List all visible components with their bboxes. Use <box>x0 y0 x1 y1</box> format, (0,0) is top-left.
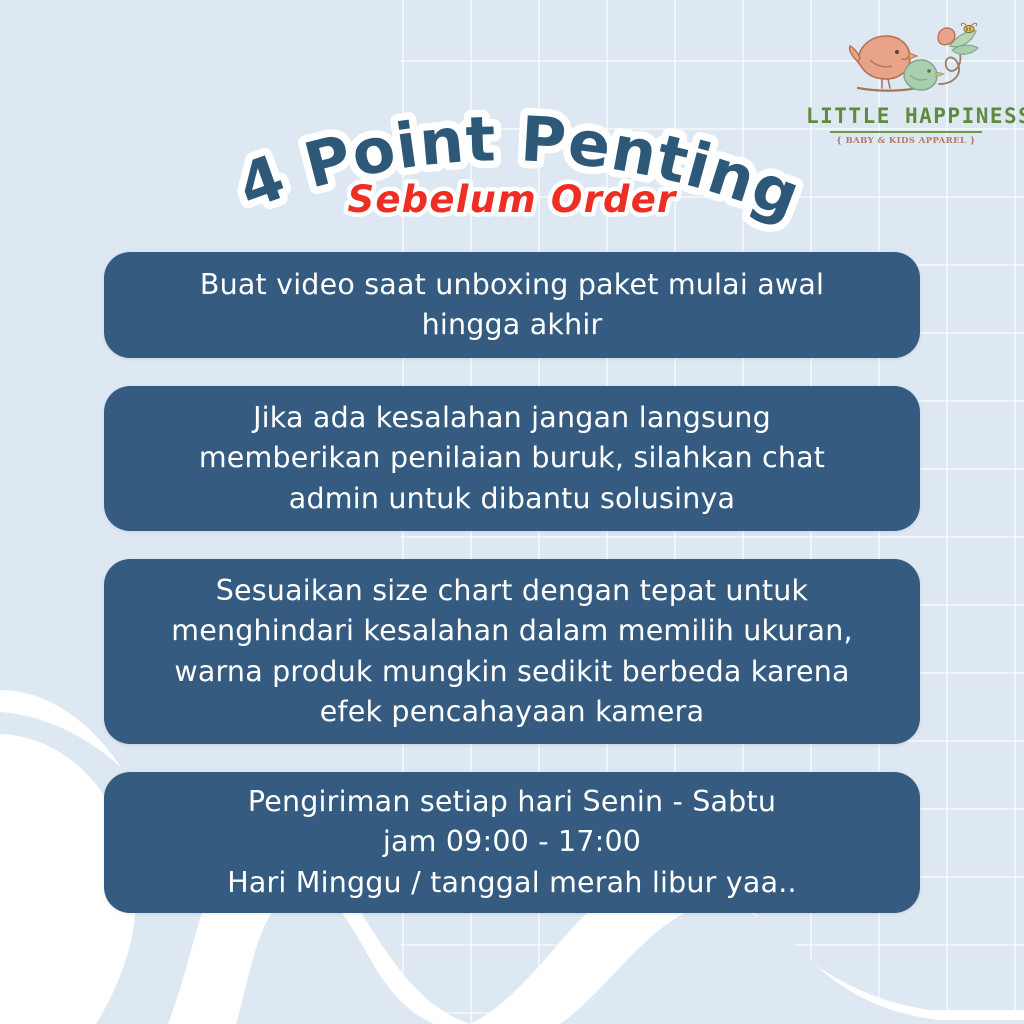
subtitle-text: Sebelum Order <box>348 178 678 221</box>
point-card: Sesuaikan size chart dengan tepat untuk … <box>104 559 920 744</box>
point-card-text: Pengiriman setiap hari Senin - Sabtu jam… <box>227 782 797 903</box>
point-card-text: Jika ada kesalahan jangan langsung membe… <box>199 398 825 519</box>
promo-poster: LITTLE HAPPINESS { BABY & KIDS APPAREL }… <box>0 0 1024 1024</box>
point-card-text: Buat video saat unboxing paket mulai awa… <box>200 265 824 346</box>
point-card: Jika ada kesalahan jangan langsung membe… <box>104 386 920 531</box>
point-card: Buat video saat unboxing paket mulai awa… <box>104 252 920 358</box>
point-card-text: Sesuaikan size chart dengan tepat untuk … <box>171 571 852 733</box>
page-subtitle: Sebelum Order Sebelum Order <box>0 168 1024 228</box>
points-list: Buat video saat unboxing paket mulai awa… <box>104 252 920 913</box>
subtitle-svg: Sebelum Order Sebelum Order <box>0 168 1024 228</box>
point-card: Pengiriman setiap hari Senin - Sabtu jam… <box>104 772 920 913</box>
